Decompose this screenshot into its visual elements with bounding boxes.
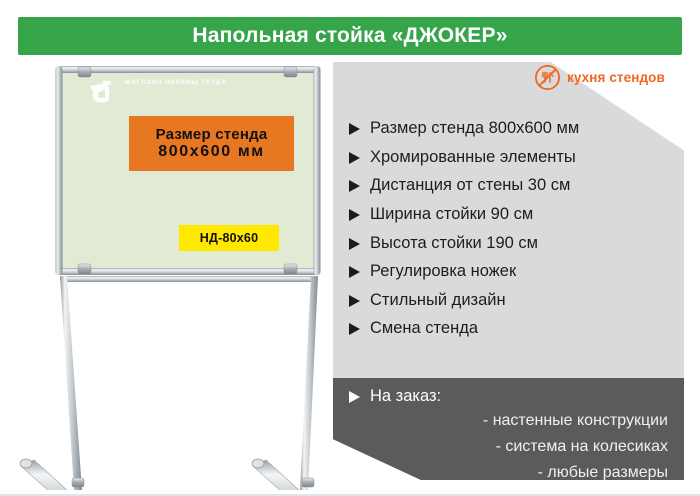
order-item: - система на колесиках bbox=[496, 437, 668, 457]
board-brand-logo: МАГАЗИН ОХРАНЫ ТРУДА bbox=[87, 79, 227, 105]
triangle-right-icon bbox=[349, 266, 363, 278]
spec-list: Размер стенда 800x600 мм Хромированные э… bbox=[349, 118, 679, 347]
spec-item-label: Дистанция от стены 30 см bbox=[370, 175, 570, 195]
shield-mark-icon bbox=[87, 79, 121, 105]
list-item: Смена стенда bbox=[349, 318, 679, 338]
triangle-right-icon bbox=[349, 323, 363, 335]
list-item: Стильный дизайн bbox=[349, 290, 679, 310]
order-block-heading: На заказ: bbox=[349, 386, 441, 406]
header-banner: Напольная стойка «ДЖОКЕР» bbox=[18, 17, 682, 55]
triangle-right-icon bbox=[349, 152, 363, 164]
brand-logo: кухня стендов bbox=[534, 63, 665, 91]
spec-item-label: Высота стойки 190 см bbox=[370, 233, 538, 253]
board-brand-text: МАГАЗИН ОХРАНЫ ТРУДА bbox=[125, 79, 227, 86]
no-utensils-icon bbox=[534, 64, 561, 91]
page-title: Напольная стойка «ДЖОКЕР» bbox=[192, 24, 507, 48]
stand-board-face: МАГАЗИН ОХРАНЫ ТРУДА Размер стенда 800x6… bbox=[75, 70, 300, 270]
list-item: Регулировка ножек bbox=[349, 261, 679, 281]
spec-item-label: Хромированные элементы bbox=[370, 147, 576, 167]
spec-item-label: Смена стенда bbox=[370, 318, 478, 338]
triangle-right-icon bbox=[349, 209, 363, 221]
stand-size-label-line1: Размер стенда bbox=[156, 126, 268, 143]
stand-size-label-line2: 800x600 мм bbox=[158, 143, 264, 161]
spec-item-label: Размер стенда 800x600 мм bbox=[370, 118, 579, 138]
list-item: Дистанция от стены 30 см bbox=[349, 175, 679, 195]
triangle-right-icon bbox=[349, 123, 363, 135]
stand-size-label: Размер стенда 800x600 мм bbox=[129, 116, 294, 171]
spec-item-label: Ширина стойки 90 см bbox=[370, 204, 533, 224]
list-item: Размер стенда 800x600 мм bbox=[349, 118, 679, 138]
triangle-right-icon bbox=[349, 238, 363, 250]
stand-code-label: НД-80x60 bbox=[179, 225, 279, 251]
triangle-right-icon bbox=[349, 295, 363, 307]
stand-illustration: МАГАЗИН ОХРАНЫ ТРУДА Размер стенда 800x6… bbox=[16, 60, 332, 490]
order-item: - настенные конструкции bbox=[483, 411, 668, 431]
triangle-right-icon bbox=[349, 391, 363, 403]
order-title: На заказ: bbox=[370, 386, 441, 406]
list-item: Ширина стойки 90 см bbox=[349, 204, 679, 224]
list-item: Высота стойки 190 см bbox=[349, 233, 679, 253]
spec-item-label: Стильный дизайн bbox=[370, 290, 506, 310]
order-block: На заказ: - настенные конструкции - сист… bbox=[333, 378, 684, 480]
order-item: - любые размеры bbox=[538, 463, 668, 483]
spec-item-label: Регулировка ножек bbox=[370, 261, 516, 281]
poster-root: Напольная стойка «ДЖОКЕР» bbox=[0, 0, 700, 496]
stand-code-label-text: НД-80x60 bbox=[200, 231, 258, 245]
spec-panel: Размер стенда 800x600 мм Хромированные э… bbox=[333, 62, 684, 378]
list-item: Хромированные элементы bbox=[349, 147, 679, 167]
brand-name: кухня стендов bbox=[567, 70, 665, 85]
triangle-right-icon bbox=[349, 180, 363, 192]
